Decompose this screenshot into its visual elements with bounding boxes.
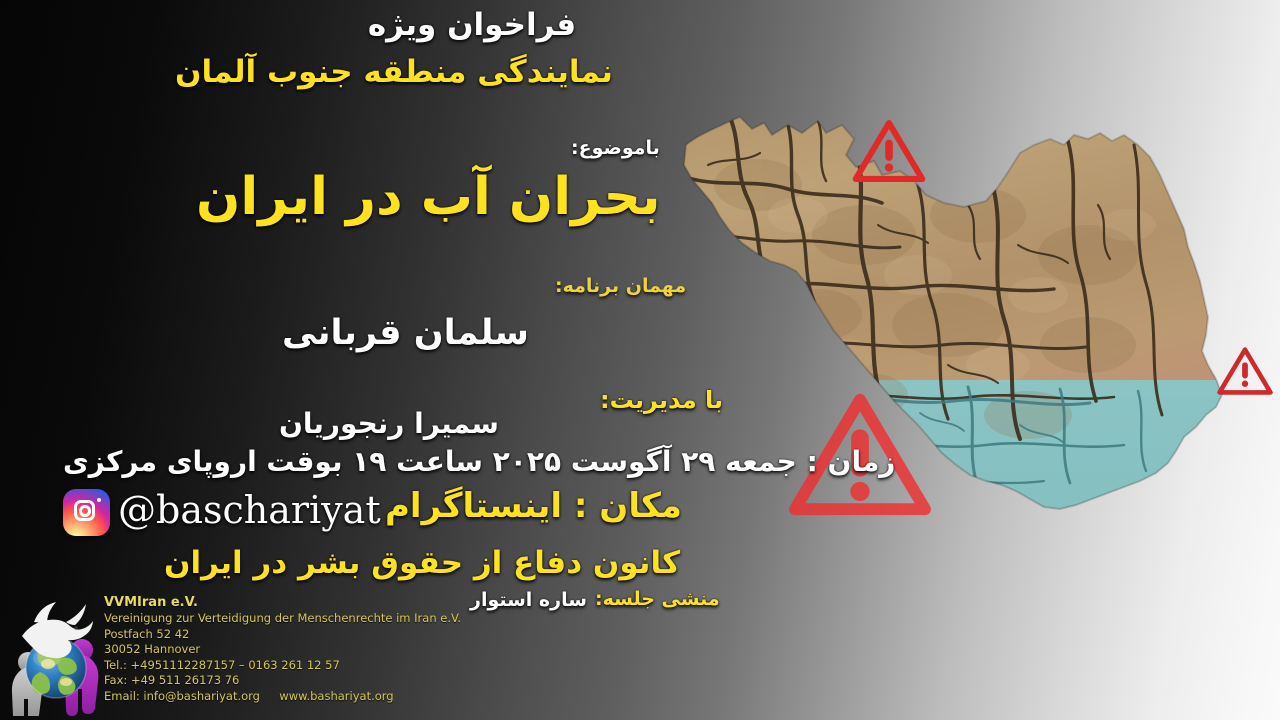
event-poster: فراخوان ویژه نمایندگی منطقه جنوب آلمان ب… — [0, 0, 1280, 720]
secretary-label: منشی جلسه: — [595, 589, 720, 611]
footer-city: 30052 Hannover — [104, 642, 461, 658]
event-time: زمان : جمعه ۲۹ آگوست ۲۰۲۵ ساعت ۱۹ بوقت ا… — [63, 446, 895, 478]
footer-email-website: Email: info@bashariyat.org www.bashariya… — [104, 689, 461, 705]
iran-map — [668, 95, 1228, 625]
instagram-icon[interactable] — [63, 489, 110, 536]
event-place: مکان : اینستاگرام — [385, 487, 682, 526]
host-name: سمیرا رنجوریان — [279, 408, 499, 440]
footer-fax: Fax: +49 511 26173 76 — [104, 673, 461, 689]
footer-contact-block: VVMIran e.V. Vereinigung zur Verteidigun… — [104, 594, 461, 705]
footer-org-full: Vereinigung zur Verteidigung der Mensche… — [104, 611, 461, 627]
host-label: با مدیریت: — [600, 387, 723, 415]
instagram-lens — [79, 505, 91, 517]
footer-tel: Tel.: +4951112287157 – 0163 261 12 57 — [104, 658, 461, 674]
warning-triangle-north-icon — [851, 117, 927, 185]
instagram-handle[interactable]: @baschariyat — [118, 489, 381, 533]
secretary-name: ساره استوار — [470, 590, 587, 612]
instagram-dot — [97, 498, 101, 502]
vvmiran-dove-globe-logo — [4, 578, 108, 716]
footer-website[interactable]: www.bashariyat.org — [279, 689, 393, 703]
subject-label: باموضوع: — [571, 138, 660, 160]
guest-label: مهمان برنامه: — [555, 276, 686, 298]
headline-secondary: نمایندگی منطقه جنوب آلمان — [0, 55, 1280, 91]
footer-email[interactable]: Email: info@bashariyat.org — [104, 689, 260, 703]
warning-triangle-east-icon — [1216, 345, 1274, 397]
headline-primary: فراخوان ویژه — [0, 8, 1280, 44]
guest-name: سلمان قربانی — [282, 313, 529, 353]
subject-title: بحران آب در ایران — [196, 168, 660, 228]
footer-po-box: Postfach 52 42 — [104, 627, 461, 643]
organization-banner: کانون دفاع از حقوق بشر در ایران — [164, 546, 680, 582]
footer-org-name: VVMIran e.V. — [104, 594, 461, 611]
